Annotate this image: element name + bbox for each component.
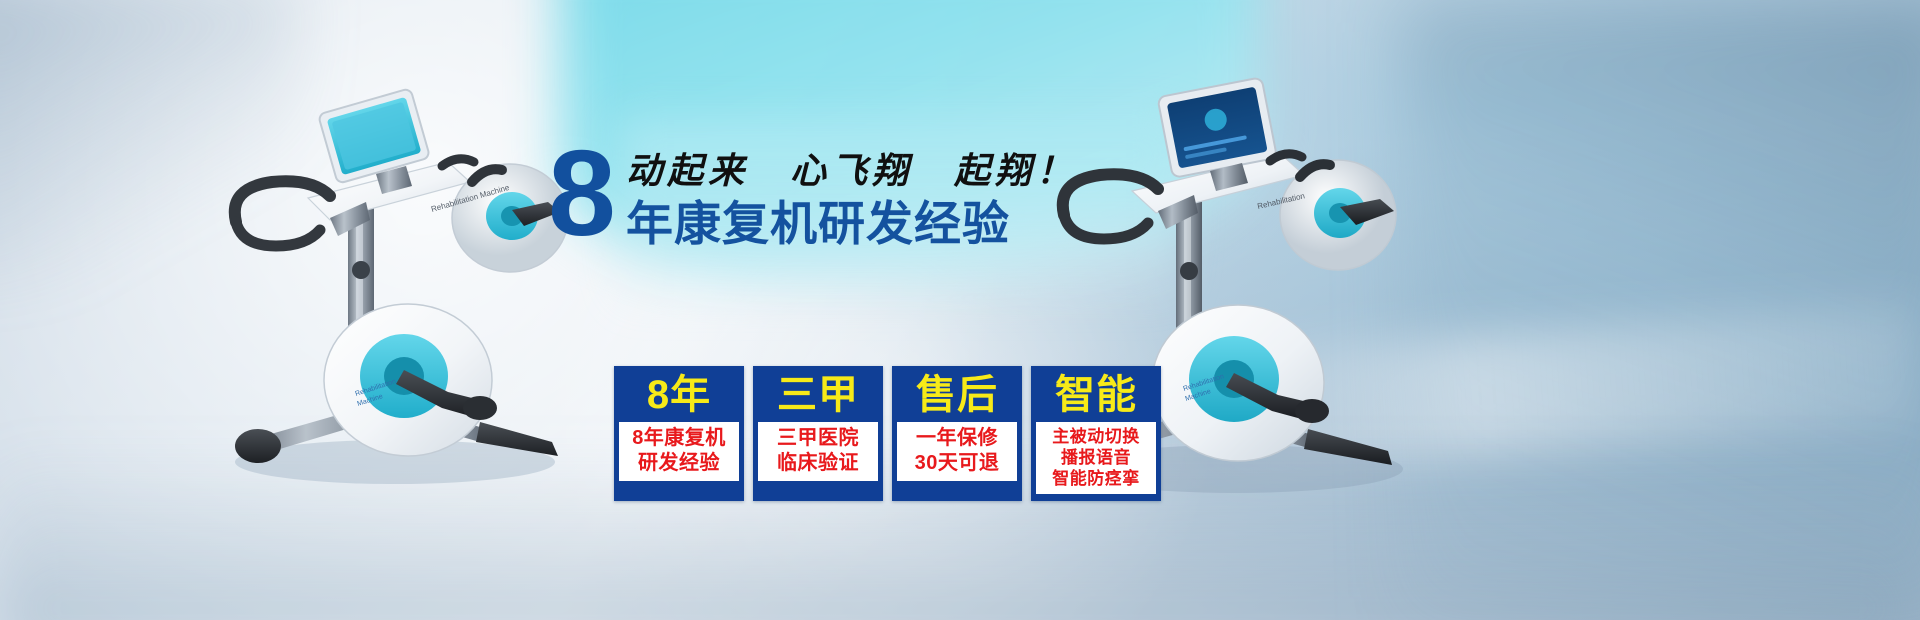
badge-title: 三甲	[777, 371, 859, 419]
badge-line: 研发经验	[638, 451, 720, 476]
badge-line: 主被动切换	[1052, 426, 1140, 447]
promo-banner: Rehabilitation Machine	[0, 0, 1920, 620]
badge-body: 主被动切换 播报语音 智能防痉挛	[1036, 422, 1156, 494]
product-image-left: Rehabilitation Machine	[180, 70, 600, 500]
badge-line: 三甲医院	[777, 426, 859, 451]
headline-big-number: 8	[548, 132, 614, 254]
headline-block: 8 动起来 心飞翔 起翔！ 年康复机研发经验	[548, 140, 1068, 260]
badge-body: 8年康复机 研发经验	[619, 422, 739, 481]
badge-line: 8年康复机	[632, 426, 726, 451]
badge-line: 临床验证	[777, 451, 859, 476]
badge-title: 售后	[916, 371, 998, 419]
badge-line: 播报语音	[1061, 447, 1131, 468]
feature-badge-hospital[interactable]: 三甲 三甲医院 临床验证	[753, 366, 883, 501]
feature-badge-row: 8年 8年康复机 研发经验 三甲 三甲医院 临床验证 售后 一年保修 30天可退…	[614, 366, 1161, 501]
feature-badge-smart[interactable]: 智能 主被动切换 播报语音 智能防痉挛	[1031, 366, 1161, 501]
badge-body: 一年保修 30天可退	[897, 422, 1017, 481]
feature-badge-aftersales[interactable]: 售后 一年保修 30天可退	[892, 366, 1022, 501]
badge-line: 30天可退	[915, 451, 1000, 476]
badge-line: 一年保修	[916, 426, 998, 451]
badge-title: 8年	[647, 371, 711, 419]
feature-badge-years[interactable]: 8年 8年康复机 研发经验	[614, 366, 744, 501]
headline-slogan: 动起来 心飞翔 起翔！	[626, 150, 1077, 192]
badge-line: 智能防痉挛	[1052, 468, 1140, 489]
badge-body: 三甲医院 临床验证	[758, 422, 878, 481]
headline-subtitle: 年康复机研发经验	[626, 196, 1010, 252]
badge-title: 智能	[1055, 371, 1137, 419]
